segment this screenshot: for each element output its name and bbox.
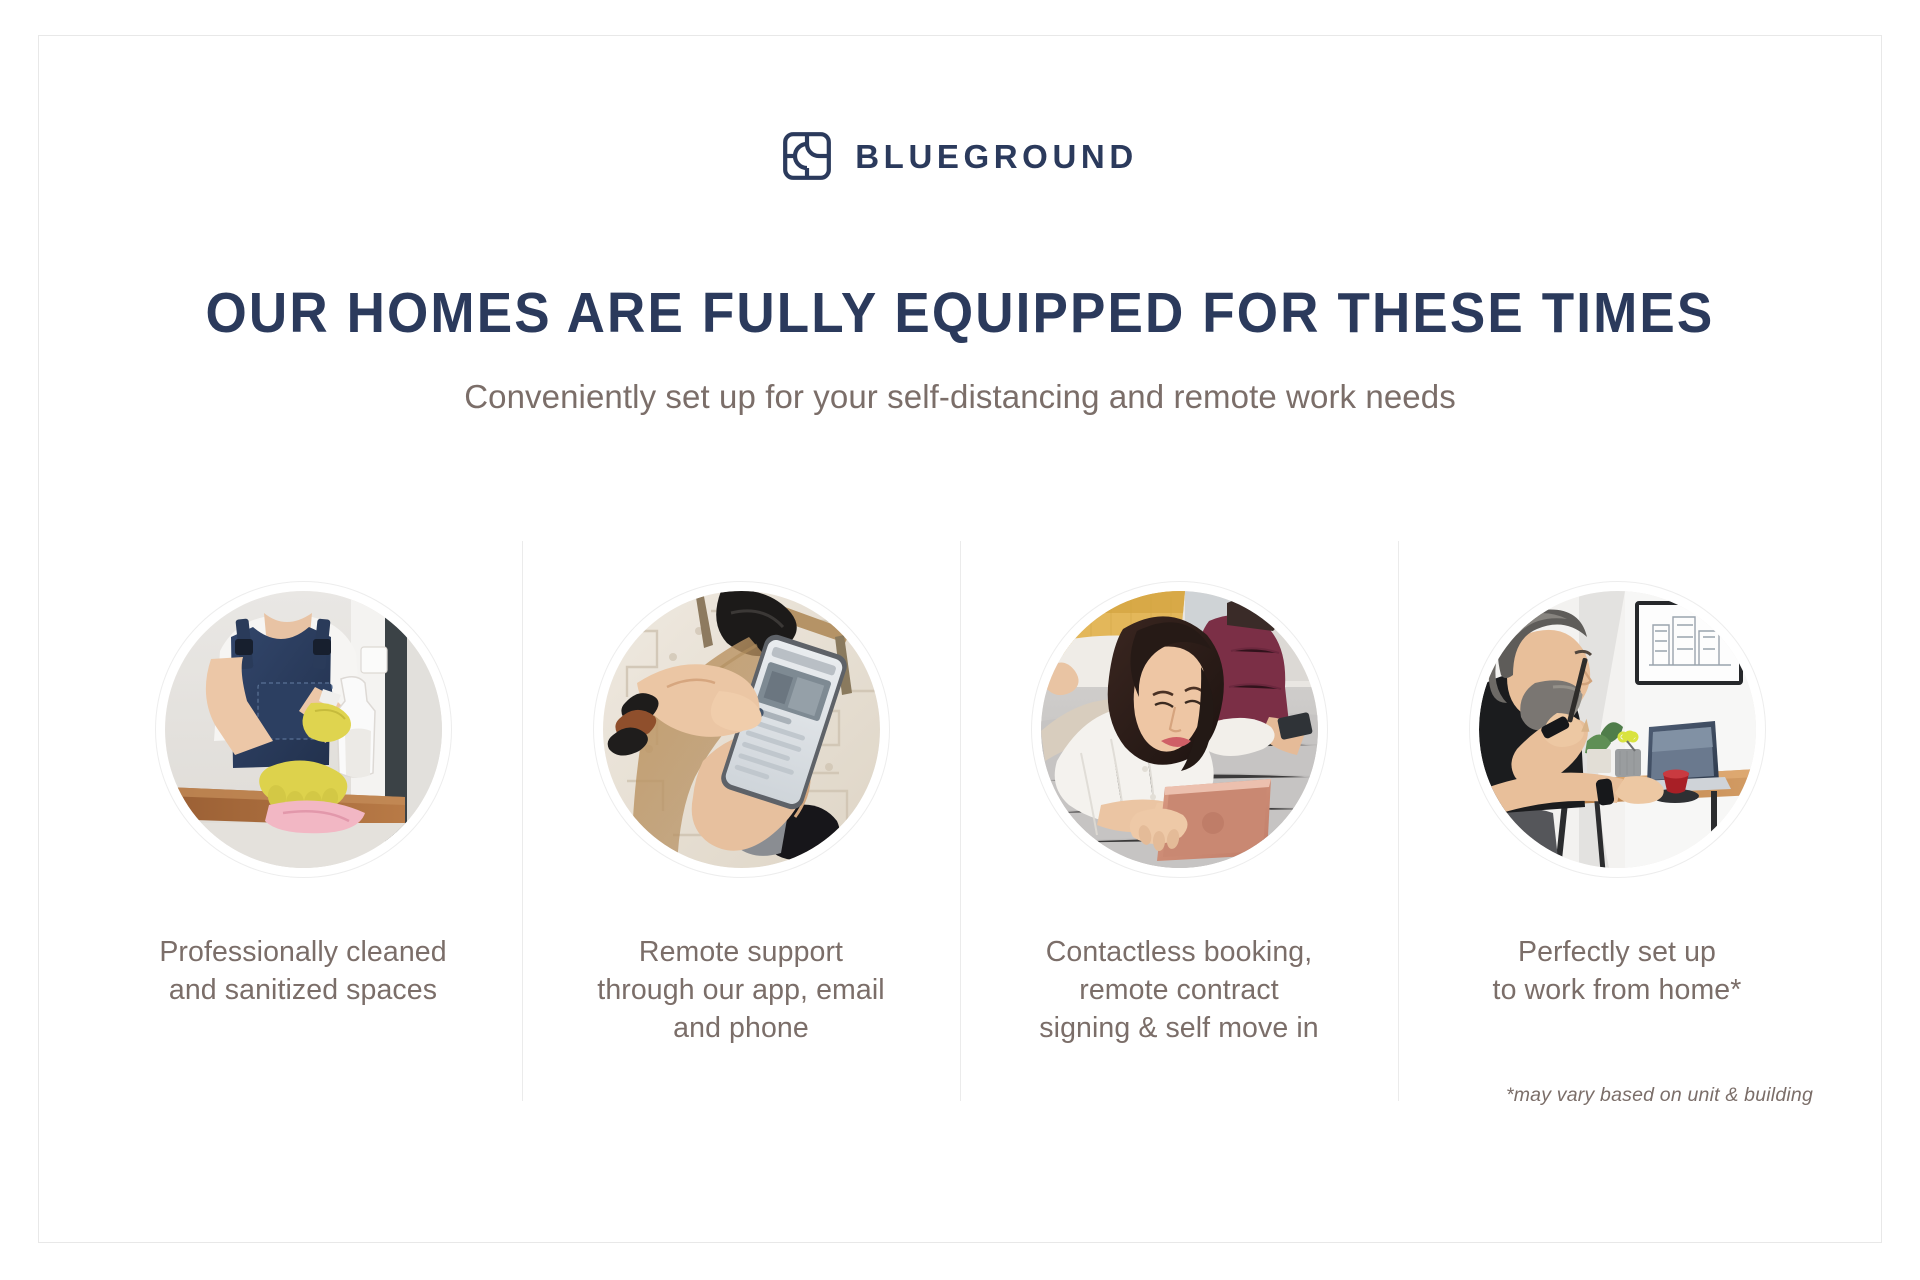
caption-line: Remote support: [597, 934, 884, 972]
feature-caption: Remote support through our app, email an…: [597, 934, 884, 1048]
feature-column-cleaning: Professionally cleaned and sanitized spa…: [84, 506, 522, 1101]
caption-line: and phone: [597, 1010, 884, 1048]
hands-using-smartphone-app-photo: [603, 591, 880, 868]
brand-wordmark: BLUEGROUND: [855, 140, 1138, 173]
caption-line: to work from home*: [1493, 972, 1742, 1010]
footnote-disclaimer: *may vary based on unit & building: [1506, 1084, 1813, 1107]
feature-caption: Perfectly set up to work from home*: [1493, 934, 1742, 1010]
infographic-card: BLUEGROUND OUR HOMES ARE FULLY EQUIPPED …: [38, 35, 1882, 1243]
page-subtitle: Conveniently set up for your self-distan…: [39, 376, 1881, 419]
caption-line: through our app, email: [597, 972, 884, 1010]
photo-ring: [1469, 581, 1766, 878]
photo-ring: [593, 581, 890, 878]
photo-ring: [1031, 581, 1328, 878]
feature-columns: Professionally cleaned and sanitized spa…: [84, 506, 1836, 1101]
feature-column-contactless-booking: Contactless booking, remote contract sig…: [960, 506, 1398, 1101]
blueground-square-mark-icon: [782, 131, 832, 181]
photo-ring: [155, 581, 452, 878]
feature-caption: Professionally cleaned and sanitized spa…: [159, 934, 446, 1010]
caption-line: Contactless booking,: [1039, 934, 1318, 972]
caption-line: Professionally cleaned: [159, 934, 446, 972]
brand-lockup: BLUEGROUND: [39, 131, 1881, 181]
cleaner-sanitizing-counter-photo: [165, 591, 442, 868]
caption-line: signing & self move in: [1039, 1010, 1318, 1048]
feature-column-remote-support: Remote support through our app, email an…: [522, 506, 960, 1101]
feature-caption: Contactless booking, remote contract sig…: [1039, 934, 1318, 1048]
caption-line: and sanitized spaces: [159, 972, 446, 1010]
page-title: OUR HOMES ARE FULLY EQUIPPED FOR THESE T…: [103, 284, 1816, 344]
caption-line: remote contract: [1039, 972, 1318, 1010]
feature-column-work-from-home: Perfectly set up to work from home*: [1398, 506, 1836, 1101]
caption-line: Perfectly set up: [1493, 934, 1742, 972]
woman-with-tablet-on-bed-photo: [1041, 591, 1318, 868]
man-working-from-home-laptop-photo: [1479, 591, 1756, 868]
